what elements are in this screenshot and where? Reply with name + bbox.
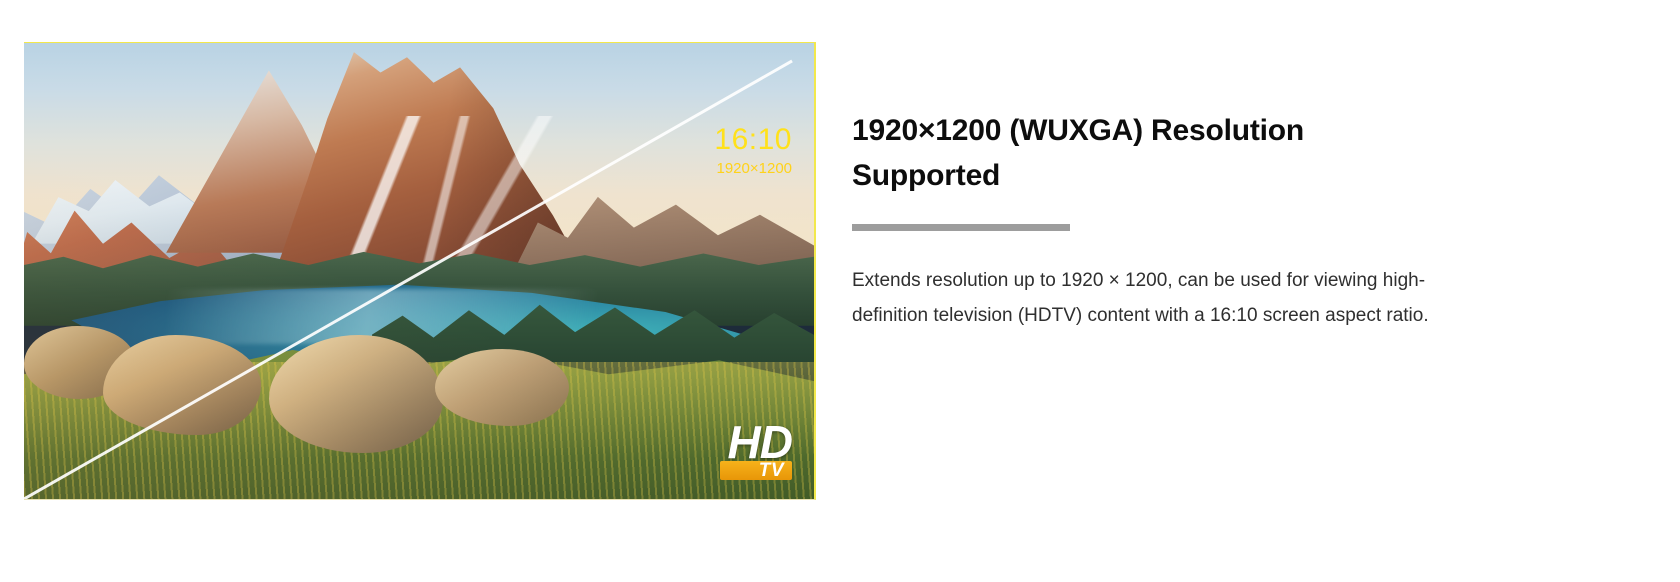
feature-panel: 16:10 1920×1200 HD TV 1920×1200 (WUXGA) … [0,0,1680,582]
boulder-center [269,335,443,454]
aspect-ratio-label: 16:10 [714,125,792,155]
hdtv-badge: HD TV [698,419,792,481]
hdtv-badge-tv-wrap: TV [698,457,792,481]
boulder-left [103,335,261,435]
hdtv-badge-tv-text: TV [759,461,784,480]
heading-divider [852,224,1070,231]
snow-streaks [293,116,562,271]
copy-column: 1920×1200 (WUXGA) Resolution Supported E… [852,108,1452,333]
media-column: 16:10 1920×1200 HD TV [24,42,816,500]
screen-frame: 16:10 1920×1200 HD TV [24,42,816,500]
resolution-label: 1920×1200 [717,161,793,176]
landscape-photo [24,43,814,499]
feature-description: Extends resolution up to 1920 × 1200, ca… [852,263,1442,333]
feature-heading: 1920×1200 (WUXGA) Resolution Supported [852,108,1452,198]
